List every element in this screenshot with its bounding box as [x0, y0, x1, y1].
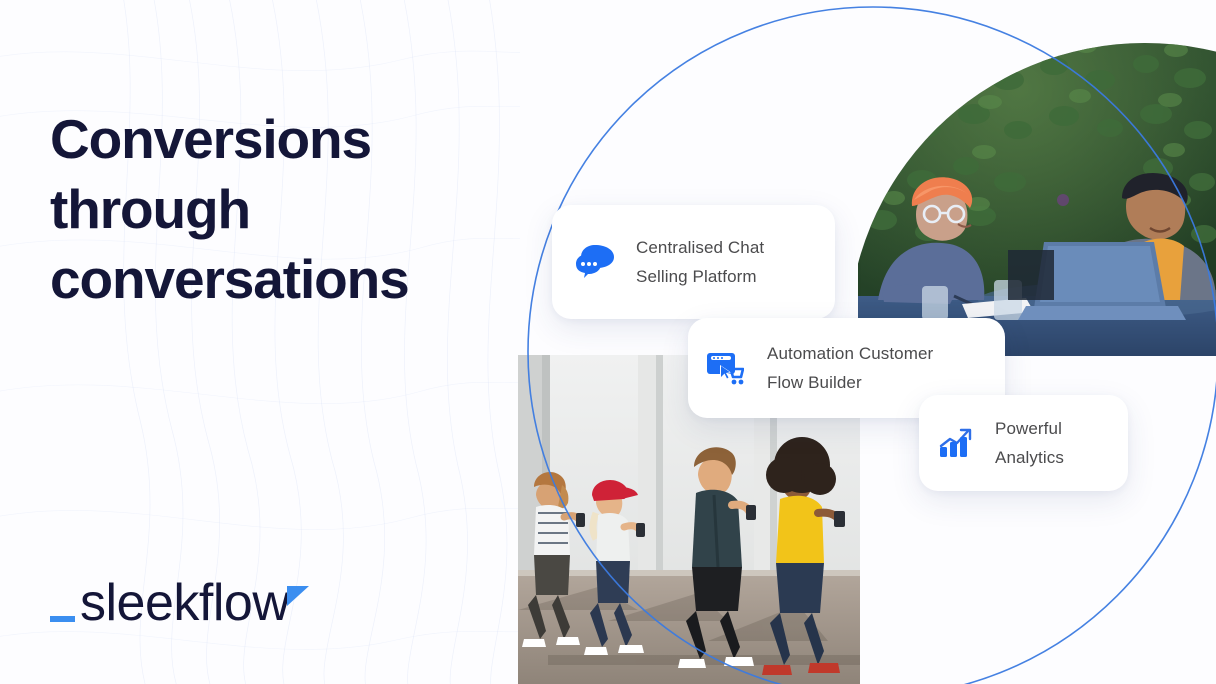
- feature-card-powerful-analytics[interactable]: Powerful Analytics: [919, 395, 1128, 491]
- bar-chart-arrow-icon: [939, 427, 973, 459]
- top-photo-frame: [858, 0, 1216, 356]
- logo-triangle-accent: [287, 586, 309, 606]
- chat-bubbles-icon: [575, 245, 615, 279]
- logo-wordmark: sleekflow: [80, 574, 290, 632]
- feature-card-centralised-chat[interactable]: Centralised Chat Selling Platform: [552, 205, 835, 319]
- visual-composition: Centralised Chat Selling Platform Automa…: [495, 0, 1216, 684]
- slide-canvas: Conversions through conversations sleekf…: [0, 0, 1216, 684]
- sleekflow-logo[interactable]: sleekflow: [48, 572, 316, 632]
- feature-card-label: Automation Customer Flow Builder: [767, 339, 933, 397]
- feature-card-label: Centralised Chat Selling Platform: [636, 233, 764, 291]
- page-title: Conversions through conversations: [50, 104, 520, 314]
- feature-card-label: Powerful Analytics: [995, 414, 1064, 472]
- browser-cart-cursor-icon: [706, 351, 744, 385]
- logo-underscore: [50, 616, 75, 622]
- two-colleagues-at-laptop-photo: [858, 0, 1216, 356]
